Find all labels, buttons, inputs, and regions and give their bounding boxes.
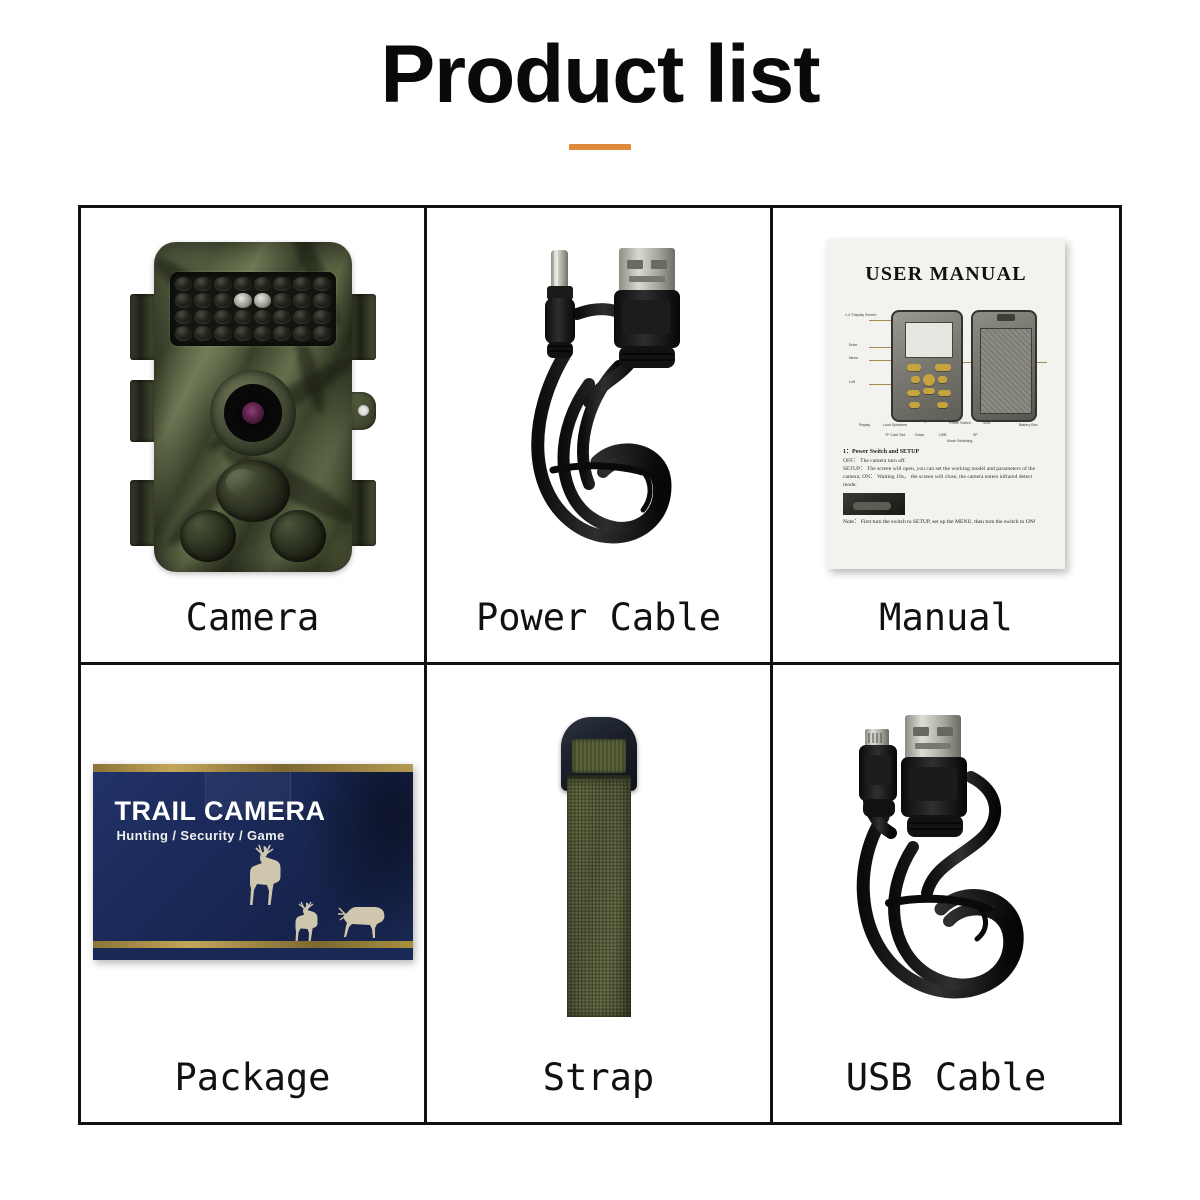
manual-callout-label: SP — [973, 434, 978, 438]
page-header: Product list — [0, 0, 1200, 150]
ir-led — [175, 310, 193, 325]
ir-led — [293, 277, 311, 292]
ir-led — [214, 310, 232, 325]
product-cell-strap[interactable]: Strap — [427, 665, 773, 1122]
ir-led — [293, 310, 311, 325]
ir-led — [313, 277, 331, 292]
manual-callout-label: Menu — [849, 357, 858, 361]
manual-device-screen — [905, 322, 953, 358]
manual-device-front — [891, 310, 963, 422]
product-cell-camera[interactable]: Camera — [81, 208, 427, 665]
manual-device-battery-lid — [971, 310, 1037, 422]
manual-callout-label: TF Card Slot — [885, 434, 905, 438]
mounting-strap-icon — [567, 717, 631, 1017]
infrared-led-panel — [170, 272, 336, 346]
ir-led — [214, 293, 232, 308]
product-label-usb-cable: USB Cable — [846, 1059, 1046, 1122]
ir-led — [234, 277, 252, 292]
camera-clip-right-top — [350, 294, 376, 360]
product-label-camera: Camera — [186, 599, 320, 662]
product-cell-manual[interactable]: USER MANUAL — [773, 208, 1119, 665]
deer-silhouette-grazing — [333, 894, 391, 942]
ir-led — [234, 310, 252, 325]
ir-led — [254, 277, 272, 292]
strap-webbing — [567, 779, 631, 1017]
ir-led — [234, 326, 252, 341]
camera-lens-ring — [210, 370, 296, 456]
strap-buckle-slot — [572, 739, 626, 773]
light-sensor — [234, 293, 252, 308]
manual-callout-label: Mode Switching — [947, 440, 972, 444]
manual-body-line: OFF： The camera turn off. — [843, 457, 1049, 465]
title-accent-divider — [569, 144, 631, 150]
manual-title: USER MANUAL — [843, 263, 1049, 286]
ir-led — [313, 293, 331, 308]
product-label-power-cable: Power Cable — [476, 599, 721, 662]
ir-led — [254, 310, 272, 325]
ir-led — [254, 326, 272, 341]
manual-inline-photo — [843, 493, 905, 515]
camera-clip-left-bottom — [130, 480, 156, 546]
ir-led — [293, 293, 311, 308]
strap-image — [427, 665, 770, 1059]
trail-camera-icon — [130, 242, 376, 572]
manual-callout-label: 1.4 "Display Screen — [845, 314, 876, 318]
box-bottom-stripe — [93, 941, 413, 948]
usb-cable-icon — [821, 707, 1071, 1017]
product-label-manual: Manual — [879, 599, 1013, 662]
ir-led — [175, 326, 193, 341]
box-top-stripe — [93, 764, 413, 772]
micro-usb-connector — [859, 729, 897, 817]
ir-led — [194, 293, 212, 308]
product-cell-usb-cable[interactable]: USB Cable — [773, 665, 1119, 1122]
manual-image: USER MANUAL — [773, 208, 1119, 599]
product-cell-package[interactable]: TRAIL CAMERA Hunting / Security / Game — [81, 665, 427, 1122]
camera-image — [81, 208, 424, 599]
manual-callout-label: Right — [921, 420, 929, 424]
ir-led — [214, 277, 232, 292]
product-label-package: Package — [175, 1059, 331, 1122]
page-title: Product list — [0, 34, 1200, 116]
usb-a-connector — [901, 715, 967, 837]
dc-barrel-connector — [545, 250, 575, 358]
product-label-strap: Strap — [543, 1059, 654, 1122]
usb-cable-image — [773, 665, 1119, 1059]
box-subtitle: Hunting / Security / Game — [117, 828, 285, 843]
retail-box-icon: TRAIL CAMERA Hunting / Security / Game — [93, 764, 413, 960]
secondary-sensor-left — [180, 510, 236, 562]
manual-callout-label: Enter — [849, 344, 858, 348]
pir-motion-sensor — [216, 460, 290, 522]
ir-led — [214, 326, 232, 341]
manual-body-line: SETUP： The screen will open, you can set… — [843, 465, 1049, 473]
ir-led — [273, 310, 291, 325]
deer-silhouette-small — [289, 900, 321, 944]
power-cable-illustration — [469, 234, 729, 574]
camera-clip-left-middle — [130, 380, 156, 442]
ir-led — [194, 326, 212, 341]
manual-body-text: 1：Power Switch and SETUP OFF： The camera… — [843, 446, 1049, 527]
power-cable-image — [427, 208, 770, 599]
ir-led — [273, 326, 291, 341]
ir-led — [273, 277, 291, 292]
ir-led — [194, 277, 212, 292]
light-sensor — [254, 293, 272, 308]
ir-led — [175, 293, 193, 308]
manual-callout-label: Left — [849, 381, 855, 385]
manual-callout-label: Down — [915, 434, 924, 438]
manual-callout-label: Power Switch — [949, 422, 971, 426]
manual-callout-label: Replay — [859, 424, 870, 428]
manual-body-heading: 1：Power Switch and SETUP — [843, 446, 1049, 455]
deer-silhouette-large — [241, 842, 287, 908]
camera-lens — [224, 384, 282, 442]
secondary-sensor-right — [270, 510, 326, 562]
manual-note: Note： First turn the switch to SETUP, se… — [843, 519, 1049, 527]
manual-callout-label: USB — [939, 434, 946, 438]
ir-led — [194, 310, 212, 325]
usb-a-connector — [614, 248, 680, 368]
camera-body — [154, 242, 352, 572]
box-bottom-edge — [93, 948, 413, 960]
camera-lens-glass — [242, 402, 264, 424]
camera-clip-right-bottom — [350, 480, 376, 546]
camera-clip-left-top — [130, 294, 156, 360]
manual-diagram: 1.4 "Display Screen Enter Menu Left Repl… — [843, 292, 1049, 442]
manual-callout-label: Shot — [983, 422, 990, 426]
ir-led — [313, 310, 331, 325]
package-image: TRAIL CAMERA Hunting / Security / Game — [81, 665, 424, 1059]
manual-callout-label: Loud Speakers — [883, 424, 907, 428]
box-brand-title: TRAIL CAMERA — [115, 796, 326, 827]
ir-led — [175, 277, 193, 292]
product-cell-power-cable[interactable]: Power Cable — [427, 208, 773, 665]
manual-callout-label: Battery Box — [1019, 424, 1038, 428]
usb-cable-illustration — [821, 707, 1071, 1017]
ir-led — [313, 326, 331, 341]
user-manual-icon: USER MANUAL — [827, 239, 1065, 569]
ir-led — [273, 293, 291, 308]
ir-led — [293, 326, 311, 341]
product-list-grid: Camera — [78, 205, 1122, 1125]
manual-body-line: mode. — [843, 481, 1049, 489]
dc-power-cable-icon — [469, 234, 729, 574]
manual-body-line: camera; ON： Waiting 10s， the screen will… — [843, 473, 1049, 481]
